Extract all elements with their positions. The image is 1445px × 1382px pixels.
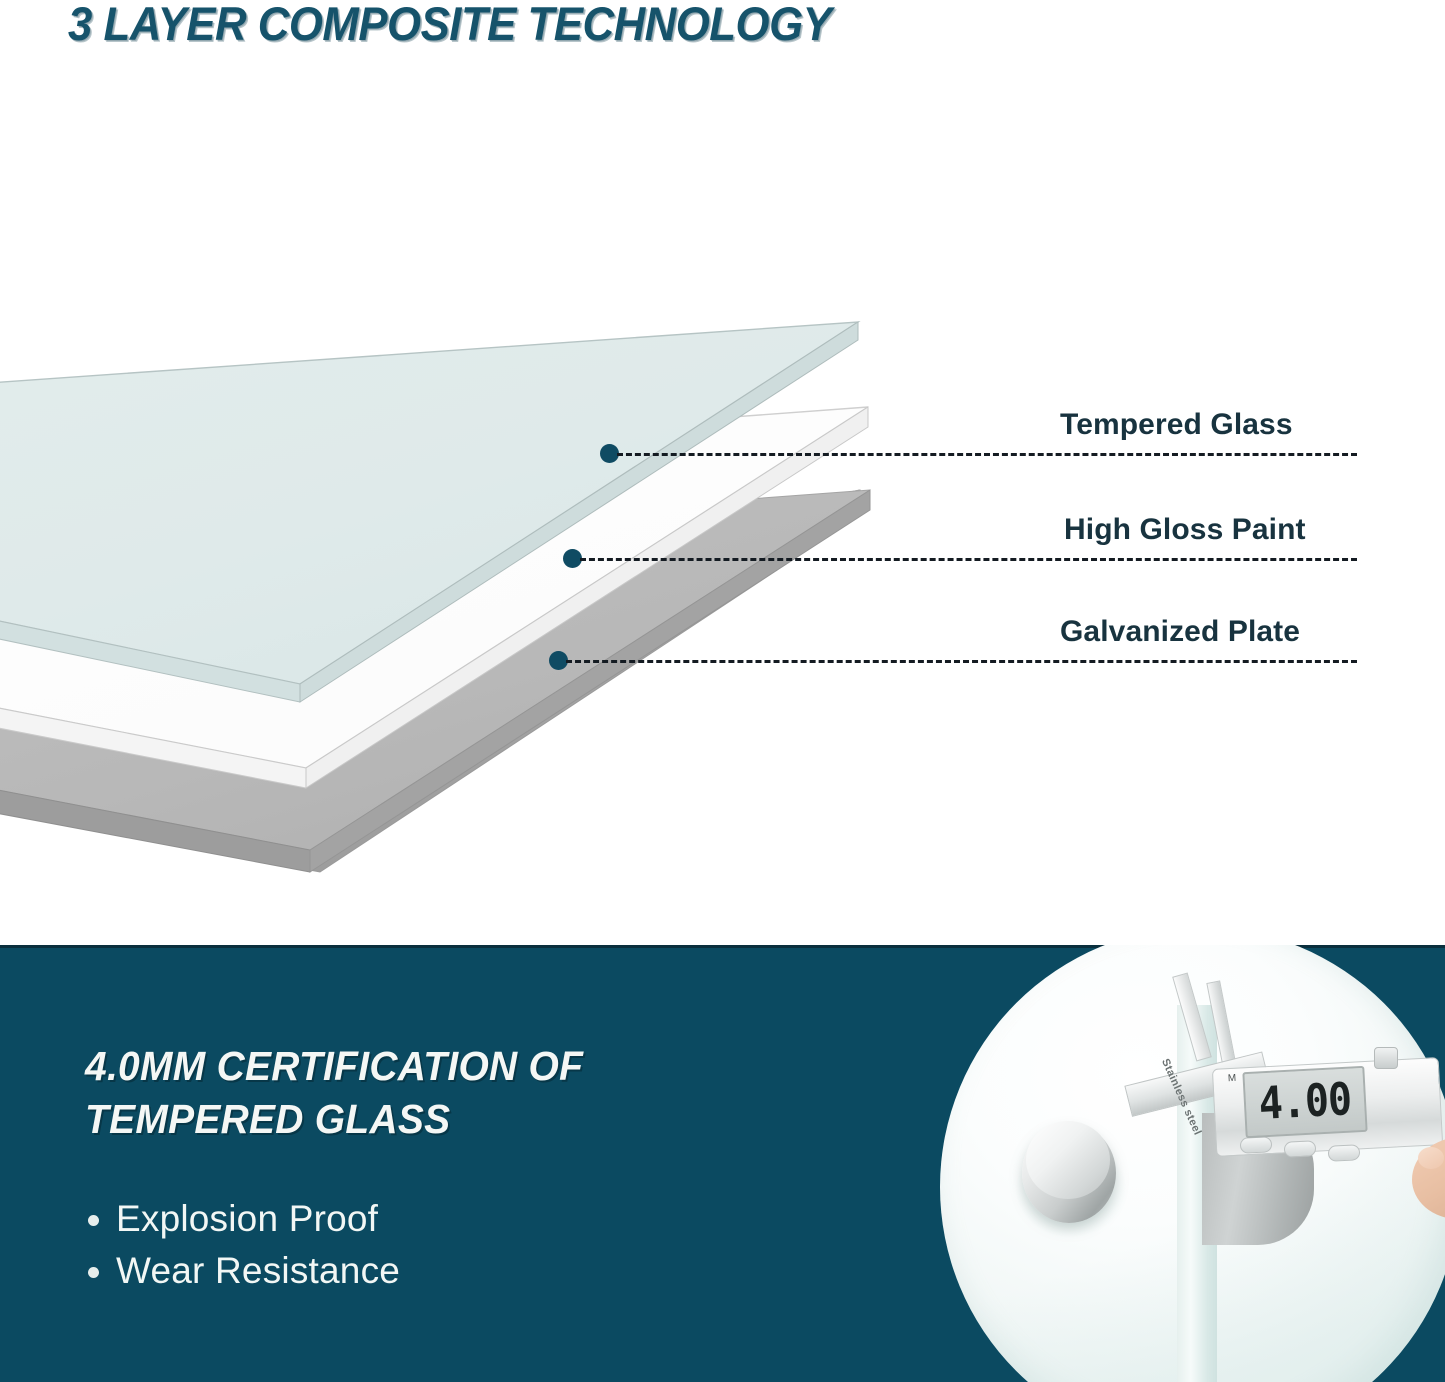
caliper-measurement-photo: M Stainless steel 4.00 [912, 945, 1445, 1382]
fingernail [1418, 1147, 1444, 1169]
caliper-lower-jaw [1206, 980, 1235, 1063]
bullet-label-explosion-proof: Explosion Proof [116, 1198, 378, 1240]
bullet-dot-icon [88, 1267, 99, 1278]
bullet-dot-icon [88, 1215, 99, 1226]
caliper-button-unit [1328, 1144, 1361, 1162]
layer-stack-diagram [0, 150, 900, 910]
certification-heading-line2: TEMPERED GLASS [85, 1093, 769, 1146]
label-galvanized-plate: Galvanized Plate [1060, 615, 1300, 649]
caliper-brand-icon: M [1221, 1068, 1242, 1089]
layer-technology-section: 3 LAYER COMPOSITE TECHNOLOGY [0, 0, 1445, 945]
bullet-label-wear-resistance: Wear Resistance [116, 1250, 400, 1292]
label-high-gloss-paint: High Gloss Paint [1064, 513, 1306, 547]
leader-line-galvanized-plate [566, 660, 1357, 663]
leader-line-tempered-glass [617, 453, 1357, 456]
certification-heading: 4.0MM CERTIFICATION OF TEMPERED GLASS [85, 1040, 769, 1146]
leader-line-high-gloss-paint [580, 558, 1357, 561]
caliper-lcd-display: 4.00 [1242, 1066, 1367, 1138]
caliper-button-onoff [1284, 1140, 1317, 1158]
standoff-front-face [1026, 1121, 1110, 1199]
list-item: Wear Resistance [88, 1248, 728, 1294]
caliper-reading-value: 4.00 [1258, 1074, 1353, 1130]
digital-caliper: M Stainless steel 4.00 [1122, 965, 1445, 1205]
product-infographic: 3 LAYER COMPOSITE TECHNOLOGY [0, 0, 1445, 1382]
caliper-button-zero [1240, 1136, 1273, 1154]
certification-heading-line1: 4.0MM CERTIFICATION OF [85, 1040, 769, 1093]
label-tempered-glass: Tempered Glass [1060, 408, 1293, 442]
page-title: 3 LAYER COMPOSITE TECHNOLOGY [68, 0, 831, 50]
caliper-thumbwheel [1374, 1047, 1398, 1069]
feature-bullet-list: Explosion Proof Wear Resistance [88, 1196, 728, 1300]
list-item: Explosion Proof [88, 1196, 728, 1242]
